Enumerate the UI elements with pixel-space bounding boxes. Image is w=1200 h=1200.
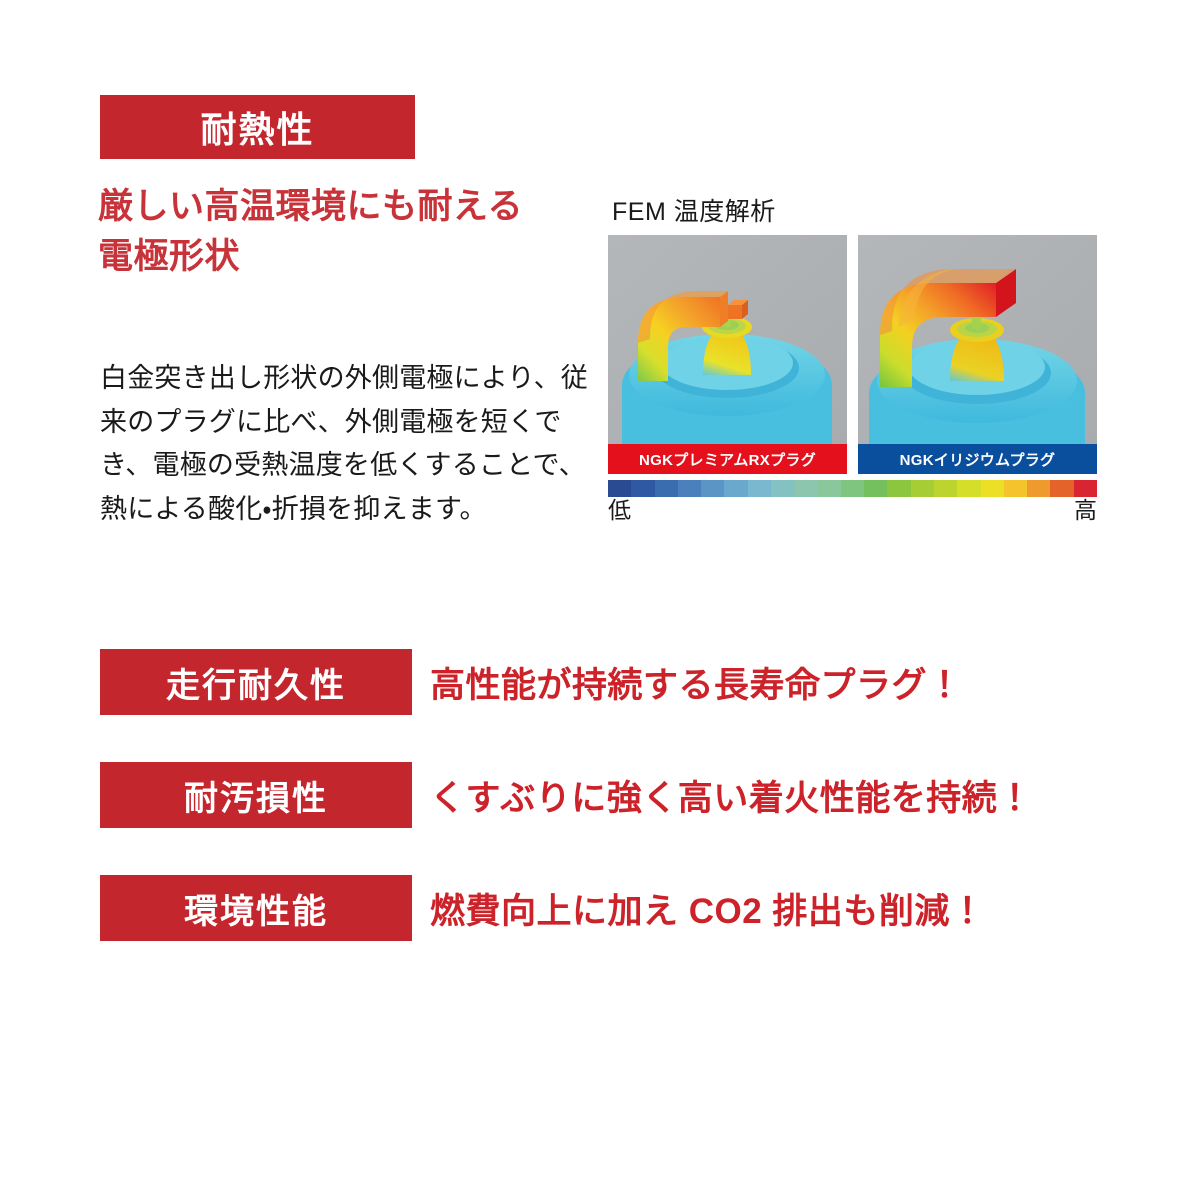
fem-scale-step-2 <box>655 480 678 497</box>
heat-resistance-section: 耐熱性 厳しい高温環境にも耐える 電極形状 白金突き出し形状の外側電極により、従… <box>0 0 1200 580</box>
fem-scale-step-19 <box>1050 480 1073 497</box>
fem-scale-step-13 <box>911 480 934 497</box>
fem-image-iridium <box>858 235 1097 444</box>
fem-scale-step-11 <box>864 480 887 497</box>
fem-panel-iridium: NGKイリジウムプラグ <box>858 235 1097 474</box>
fem-scale-step-20 <box>1074 480 1097 497</box>
feature-row-environmental: 環境性能 燃費向上に加え CO2 排出も削減！ <box>0 856 1200 969</box>
fem-scale-labels: 低 高 <box>608 498 1097 522</box>
feature-row-durability: 走行耐久性 高性能が持続する長寿命プラグ！ <box>0 630 1200 743</box>
fem-caption-premium-rx: NGKプレミアムRXプラグ <box>608 444 847 474</box>
fem-scale-step-16 <box>981 480 1004 497</box>
fem-panel-premium-rx: NGKプレミアムRXプラグ <box>608 235 847 474</box>
fem-thermal-render-premium-rx <box>608 235 847 444</box>
heat-resistance-lede: 厳しい高温環境にも耐える 電極形状 <box>98 182 618 281</box>
fem-scale-step-17 <box>1004 480 1027 497</box>
feature-badge-durability: 走行耐久性 <box>100 649 412 715</box>
lede-line-1: 厳しい高温環境にも耐える <box>98 182 618 232</box>
lede-line-2: 電極形状 <box>98 232 618 282</box>
ngk-feature-infographic: { "heat": { "badge": "耐熱性", "lede_line1"… <box>0 0 1200 1200</box>
fem-analysis-title: FEM 温度解析 <box>612 200 1098 225</box>
fem-scale-step-5 <box>724 480 747 497</box>
feature-rows-section: 走行耐久性 高性能が持続する長寿命プラグ！ 耐汚損性 くすぶりに強く高い着火性能… <box>0 630 1200 969</box>
fem-scale-step-14 <box>934 480 957 497</box>
fem-thermal-render-iridium <box>858 235 1097 444</box>
fem-scale-low-label: 低 <box>608 498 631 522</box>
fem-scale-step-4 <box>701 480 724 497</box>
fem-analysis-figure: FEM 温度解析 <box>608 200 1098 522</box>
heat-resistance-body-copy: 白金突き出し形状の外側電極により、従来のプラグに比べ、外側電極を短くでき、電極の… <box>100 357 590 532</box>
fem-scale-step-6 <box>748 480 771 497</box>
fem-scale-step-7 <box>771 480 794 497</box>
fem-scale-step-9 <box>818 480 841 497</box>
fem-scale-step-10 <box>841 480 864 497</box>
feature-badge-fouling-resistance: 耐汚損性 <box>100 762 412 828</box>
fem-panel-group: NGKプレミアムRXプラグ <box>608 235 1098 474</box>
feature-text-environmental: 燃費向上に加え CO2 排出も削減！ <box>430 875 985 941</box>
feature-text-fouling-resistance: くすぶりに強く高い着火性能を持続！ <box>430 762 1033 828</box>
feature-text-durability: 高性能が持続する長寿命プラグ！ <box>430 649 963 715</box>
feature-badge-environmental: 環境性能 <box>100 875 412 941</box>
feature-row-fouling-resistance: 耐汚損性 くすぶりに強く高い着火性能を持続！ <box>0 743 1200 856</box>
fem-scale-step-12 <box>887 480 910 497</box>
fem-scale-step-3 <box>678 480 701 497</box>
fem-scale-step-15 <box>957 480 980 497</box>
fem-caption-iridium: NGKイリジウムプラグ <box>858 444 1097 474</box>
fem-temperature-color-scale <box>608 480 1097 497</box>
fem-scale-step-1 <box>631 480 654 497</box>
fem-scale-step-8 <box>794 480 817 497</box>
section-badge-heat-resistance: 耐熱性 <box>100 95 415 159</box>
fem-scale-step-18 <box>1027 480 1050 497</box>
fem-image-premium-rx <box>608 235 847 444</box>
fem-scale-high-label: 高 <box>1074 498 1097 522</box>
fem-scale-step-0 <box>608 480 631 497</box>
